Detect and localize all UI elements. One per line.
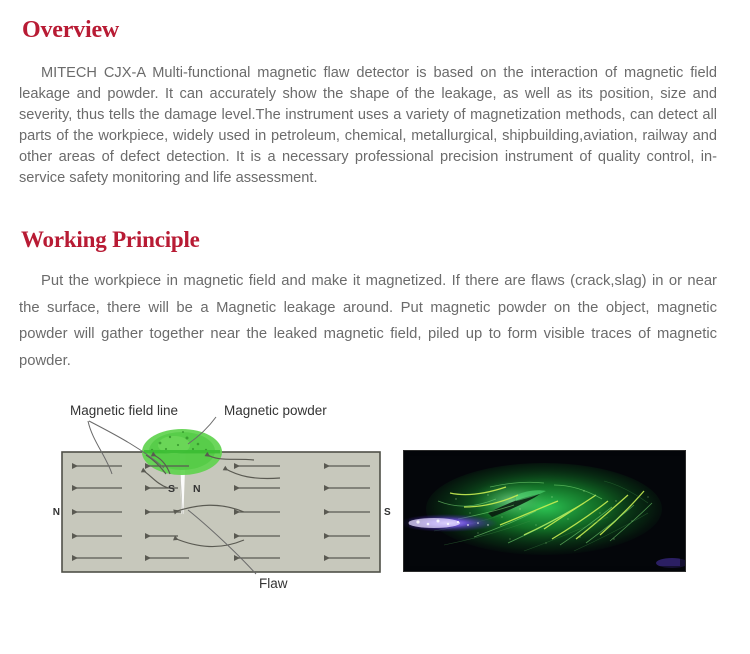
- pole-n-label: N: [53, 507, 60, 518]
- crack-pole-n-label: N: [193, 483, 201, 495]
- magnetic-leakage-diagram: S N N S Magnetic field line Magnetic pow…: [48, 388, 393, 604]
- magnetic-powder-label: Magnetic powder: [224, 403, 327, 418]
- flaw-label: Flaw: [259, 576, 288, 591]
- crack-pole-s-label: S: [168, 483, 175, 495]
- pole-s-label: S: [384, 507, 391, 518]
- section-heading-working-principle: Working Principle: [21, 227, 200, 253]
- section-paragraph-working-principle: Put the workpiece in magnetic field and …: [19, 268, 717, 374]
- figure-group: S N N S Magnetic field line Magnetic pow…: [0, 388, 750, 608]
- document-page: Overview MITECH CJX-A Multi-functional m…: [0, 0, 750, 654]
- magnetic-powder-mound: [142, 429, 222, 475]
- mpi-photograph: [403, 450, 686, 572]
- section-heading-overview: Overview: [22, 17, 119, 44]
- section-paragraph-overview: MITECH CJX-A Multi-functional magnetic f…: [19, 63, 717, 189]
- magnetic-field-line-label: Magnetic field line: [70, 403, 178, 418]
